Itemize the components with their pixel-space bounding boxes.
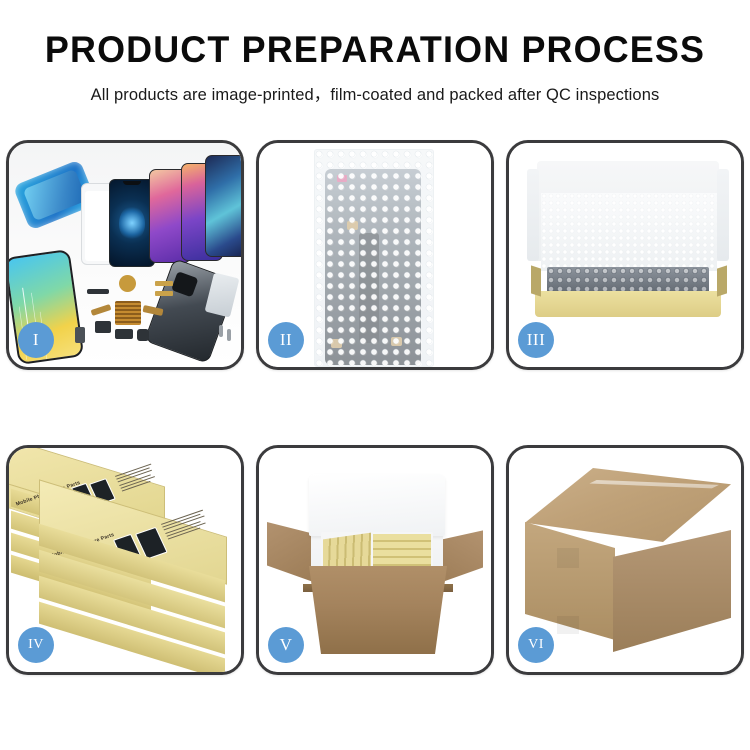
carton-seam-1	[557, 548, 579, 568]
bubble-wrap-bag	[314, 149, 434, 367]
carton-right-face	[613, 530, 731, 652]
sim-tray-part	[75, 327, 85, 343]
screw-part-2	[227, 329, 231, 341]
step-badge-5: V	[268, 627, 304, 663]
gradient-phone-3	[205, 155, 241, 257]
foam-box-lid	[309, 474, 445, 536]
box-side-right	[717, 265, 727, 296]
flex-cable-part-1	[155, 281, 173, 286]
step-panel-1[interactable]: I	[6, 140, 244, 370]
foam-sheet	[541, 193, 717, 271]
step-cell-3: III	[500, 140, 750, 370]
step-panel-2[interactable]: II	[256, 140, 494, 370]
connector-grid-part	[115, 301, 141, 325]
step-cell-6: VI	[500, 445, 750, 675]
step-cell-2: II	[250, 140, 500, 370]
step-badge-3: III	[518, 322, 554, 358]
step-cell-4: Mobile Phone Spare Parts Mobile Phone Sp…	[0, 445, 250, 675]
button-part	[137, 329, 149, 341]
header: PRODUCT PREPARATION PROCESS All products…	[0, 0, 750, 105]
product-preparation-infographic: PRODUCT PREPARATION PROCESS All products…	[0, 0, 750, 750]
box-front-panel	[535, 291, 721, 317]
speaker-part	[115, 329, 133, 339]
vibration-motor-part	[119, 275, 136, 292]
step-panel-4[interactable]: Mobile Phone Spare Parts Mobile Phone Sp…	[6, 445, 244, 675]
page-title: PRODUCT PREPARATION PROCESS	[11, 30, 739, 71]
box-side-left	[531, 265, 541, 296]
step-panel-6[interactable]: VI	[506, 445, 744, 675]
flex-cable-part-2	[155, 291, 173, 296]
carton-body	[303, 566, 453, 654]
step-badge-6: VI	[518, 627, 554, 663]
screw-part-1	[219, 325, 223, 337]
step-panel-5[interactable]: V	[256, 445, 494, 675]
step-badge-2: II	[268, 322, 304, 358]
page-subtitle: All products are image-printed，film-coat…	[0, 81, 750, 105]
steps-grid: I II	[0, 140, 750, 685]
earpiece-mesh-part	[87, 289, 109, 294]
step-badge-4: IV	[18, 627, 54, 663]
camera-module-part	[95, 321, 111, 333]
step-cell-5: V	[250, 445, 500, 675]
flex-cable-part-3	[91, 304, 112, 316]
carton-seam-2	[557, 616, 579, 634]
step-cell-1: I	[0, 140, 250, 370]
carton-top-face	[525, 468, 731, 542]
step-badge-1: I	[18, 322, 54, 358]
step-panel-3[interactable]: III	[506, 140, 744, 370]
